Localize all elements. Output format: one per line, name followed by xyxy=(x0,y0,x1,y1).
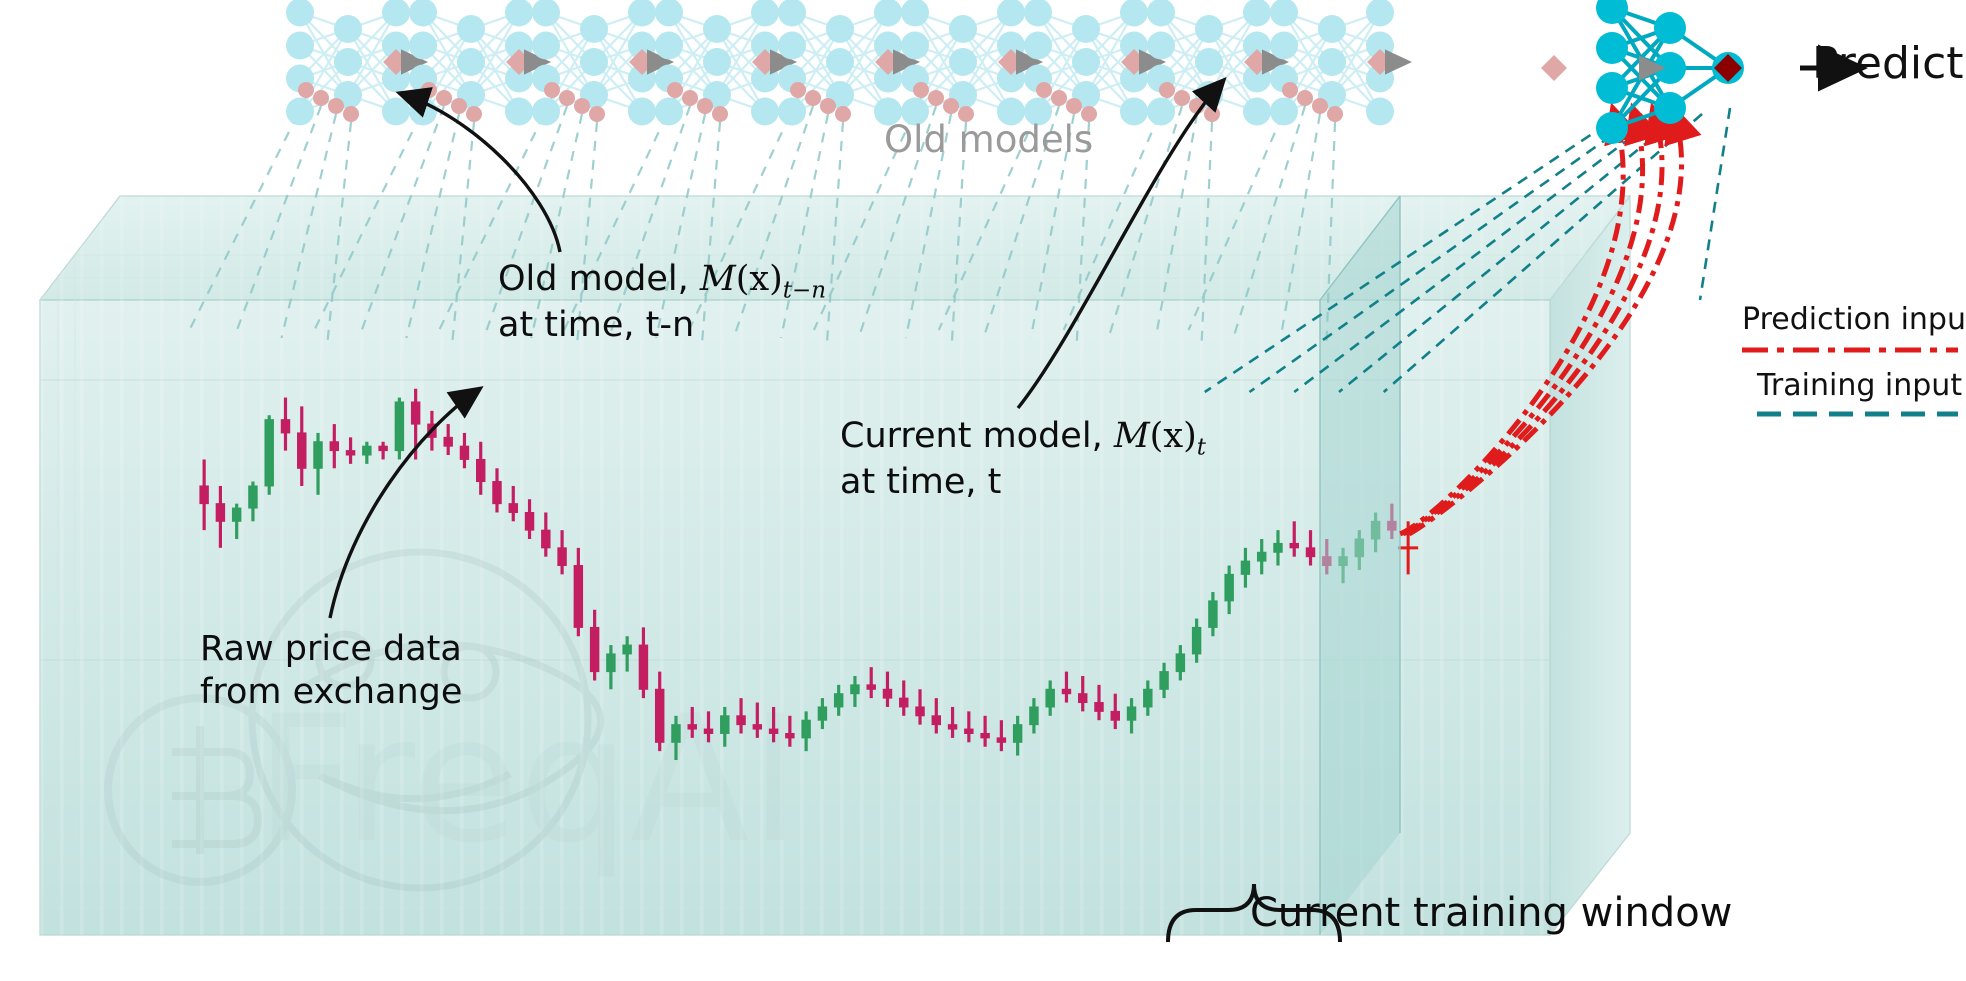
annotation-current-model: Current model, M(x)t at time, t xyxy=(840,415,1206,504)
annotation-raw-price-line1: Raw price data xyxy=(200,628,462,671)
legend-label-prediction-input: Prediction input xyxy=(1742,302,1966,337)
current-training-window-label: Current training window xyxy=(1250,890,1732,936)
annotation-current-model-arg: (x) xyxy=(1150,416,1197,456)
diagram-canvas: FreqAI xyxy=(0,0,1966,981)
old-model-networks xyxy=(286,0,1406,126)
legend-label-training-input: Training input xyxy=(1757,368,1962,403)
annotation-old-model-arg: (x) xyxy=(736,259,783,299)
annotation-current-model-text: Current model, xyxy=(840,416,1114,456)
annotation-raw-price-data: Raw price data from exchange xyxy=(200,628,462,713)
annotation-old-model-line2: at time, t-n xyxy=(498,304,826,347)
annotation-old-model: Old model, M(x)t−n at time, t-n xyxy=(498,258,826,347)
current-model-network xyxy=(1541,0,1744,144)
annotation-old-model-sub: t−n xyxy=(783,277,826,303)
prediction-label: Prediction xyxy=(1812,38,1966,89)
annotation-current-model-sub: t xyxy=(1197,434,1206,460)
old-models-label: Old models xyxy=(884,118,1093,161)
annotation-old-model-text: Old model, xyxy=(498,259,700,299)
annotation-current-model-fn: M xyxy=(1114,416,1150,456)
annotation-old-model-fn: M xyxy=(700,259,736,299)
annotation-raw-price-line2: from exchange xyxy=(200,671,462,714)
annotation-current-model-line2: at time, t xyxy=(840,461,1206,504)
